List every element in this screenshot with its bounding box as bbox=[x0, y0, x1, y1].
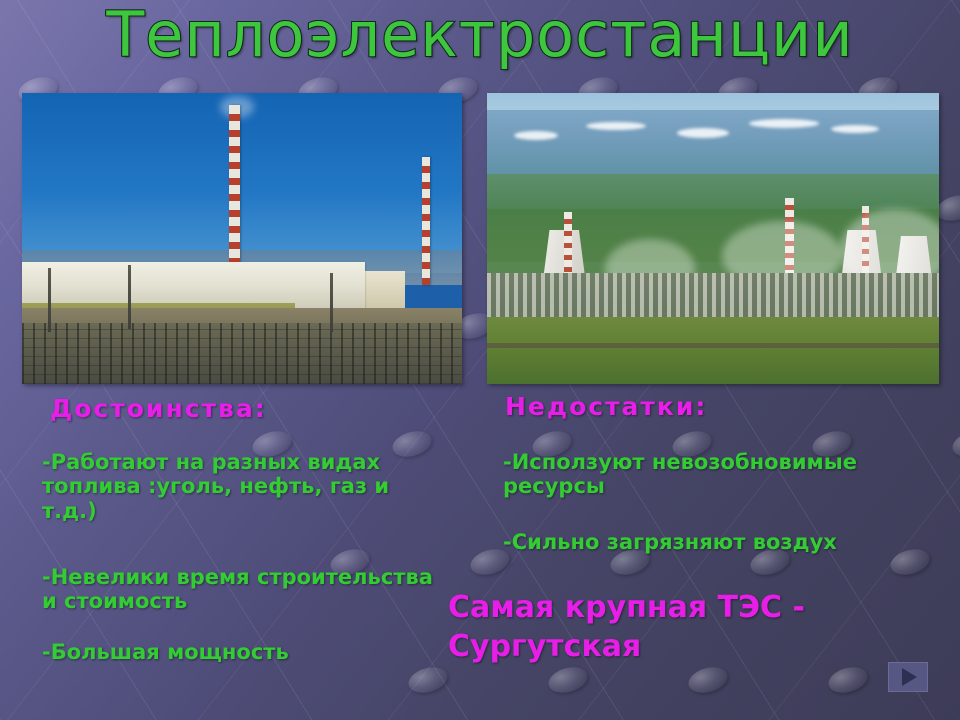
background-bead bbox=[949, 427, 960, 461]
largest-plant-note: Самая крупная ТЭС - Сургутская bbox=[448, 588, 918, 666]
pros-heading: Достоинства: bbox=[50, 394, 267, 423]
photo-left-pylon-3 bbox=[330, 273, 333, 331]
photo-right-pipeline bbox=[487, 343, 939, 348]
photo-right-snow-patch bbox=[677, 128, 729, 138]
pros-item-1: -Работают на разных видах топлива :уголь… bbox=[42, 450, 442, 523]
background-bead bbox=[825, 663, 870, 697]
photo-right-snow-patch bbox=[831, 125, 879, 133]
next-slide-button[interactable] bbox=[888, 662, 928, 692]
photo-thermal-plant-switchyard bbox=[22, 93, 462, 384]
presentation-slide: Теплоэлектростанции bbox=[0, 0, 960, 720]
photo-left-pylon-1 bbox=[48, 268, 51, 332]
photo-right-snow-patch bbox=[514, 131, 558, 140]
photo-left-smokestack-main bbox=[229, 105, 240, 280]
photo-left-sky bbox=[22, 93, 462, 273]
photo-mountain-plant bbox=[487, 93, 939, 384]
cons-item-1: -Исползуют невозобновимые ресурсы bbox=[503, 450, 923, 499]
cons-item-2: -Сильно загрязняют воздух bbox=[503, 530, 933, 554]
pros-item-2: -Невелики время строительства и стоимост… bbox=[42, 565, 442, 614]
photo-left-pylon-2 bbox=[128, 265, 131, 329]
cons-heading: Недостатки: bbox=[505, 392, 707, 421]
play-triangle-icon bbox=[902, 668, 917, 686]
background-bead bbox=[405, 663, 450, 697]
page-title: Теплоэлектростанции bbox=[0, 4, 960, 66]
background-bead bbox=[545, 663, 590, 697]
pros-item-3: -Большая мощность bbox=[42, 640, 442, 664]
photo-right-meadow bbox=[487, 317, 939, 384]
photo-left-switchyard bbox=[22, 323, 462, 384]
photo-left-smokestack-second bbox=[422, 157, 430, 285]
background-bead bbox=[685, 663, 730, 697]
photo-right-town bbox=[487, 273, 939, 322]
